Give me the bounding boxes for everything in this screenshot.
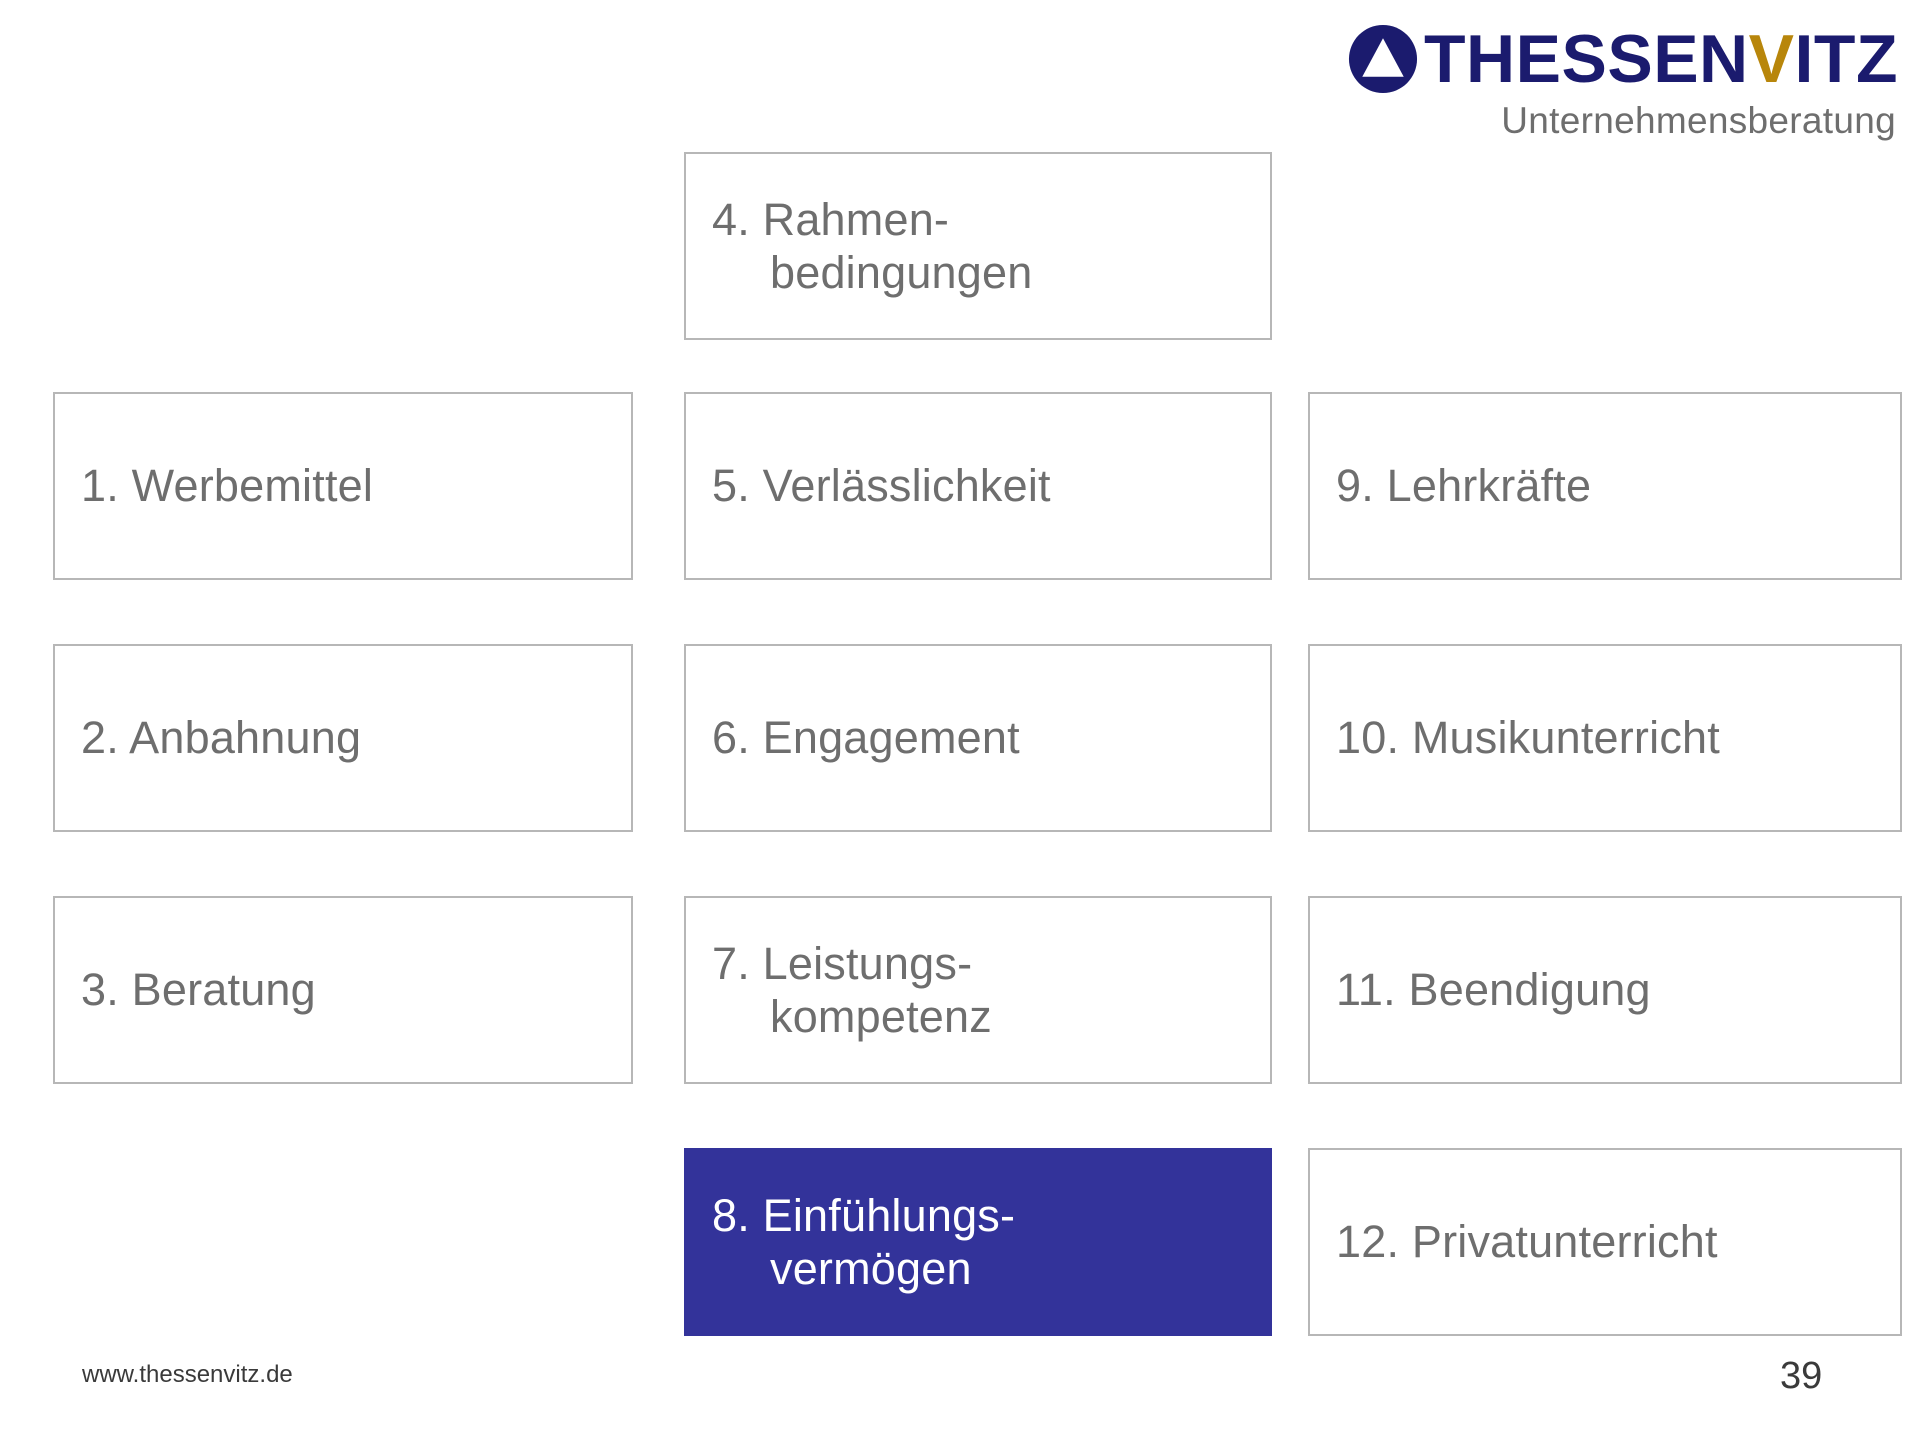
process-box-10[interactable]: 10. Musikunterricht: [1308, 644, 1902, 832]
process-box-5[interactable]: 5. Verlässlichkeit: [684, 392, 1272, 580]
process-box-label: 11. Beendigung: [1336, 963, 1651, 1016]
process-box-label: 5. Verlässlichkeit: [712, 459, 1058, 512]
process-box-8-selected[interactable]: 8. Einfühlungs- vermögen: [684, 1148, 1272, 1336]
process-box-label: 6. Engagement: [712, 711, 1027, 764]
process-box-label: 4. Rahmen- bedingungen: [712, 193, 1032, 299]
footer-website-url[interactable]: www.thessenvitz.de: [82, 1361, 293, 1389]
process-box-6[interactable]: 6. Engagement: [684, 644, 1272, 832]
slide-page-number: 39: [1780, 1355, 1822, 1398]
company-logo: THESSENVITZ Unternehmensberatung: [1346, 22, 1898, 139]
process-box-label: 10. Musikunterricht: [1336, 711, 1720, 764]
logo-subtitle: Unternehmensberatung: [1501, 102, 1896, 139]
logo-wordmark-part2: ITZ: [1795, 21, 1898, 97]
process-box-label: 3. Beratung: [81, 963, 323, 1016]
logo-wordmark-part1: THESSEN: [1424, 21, 1749, 97]
logo-wordmark: THESSENVITZ: [1424, 25, 1898, 93]
process-box-label: 2. Anbahnung: [81, 711, 371, 764]
process-box-3[interactable]: 3. Beratung: [53, 896, 633, 1084]
process-box-label: 1. Werbemittel: [81, 459, 380, 512]
process-box-7[interactable]: 7. Leistungs- kompetenz: [684, 896, 1272, 1084]
process-box-label: 8. Einfühlungs- vermögen: [712, 1189, 1023, 1295]
process-box-label: 9. Lehrkräfte: [1336, 459, 1599, 512]
process-box-1[interactable]: 1. Werbemittel: [53, 392, 633, 580]
process-box-11[interactable]: 11. Beendigung: [1308, 896, 1902, 1084]
process-box-2[interactable]: 2. Anbahnung: [53, 644, 633, 832]
process-box-9[interactable]: 9. Lehrkräfte: [1308, 392, 1902, 580]
process-box-label: 7. Leistungs- kompetenz: [712, 937, 992, 1043]
process-box-12[interactable]: 12. Privatunterricht: [1308, 1148, 1902, 1336]
process-box-4[interactable]: 4. Rahmen- bedingungen: [684, 152, 1272, 340]
logo-wordmark-accent: V: [1749, 21, 1795, 97]
logo-top-row: THESSENVITZ: [1346, 22, 1898, 96]
slide: THESSENVITZ Unternehmensberatung 4. Rahm…: [0, 0, 1920, 1440]
process-box-label: 12. Privatunterricht: [1336, 1215, 1718, 1268]
triangle-in-circle-icon: [1346, 22, 1420, 96]
